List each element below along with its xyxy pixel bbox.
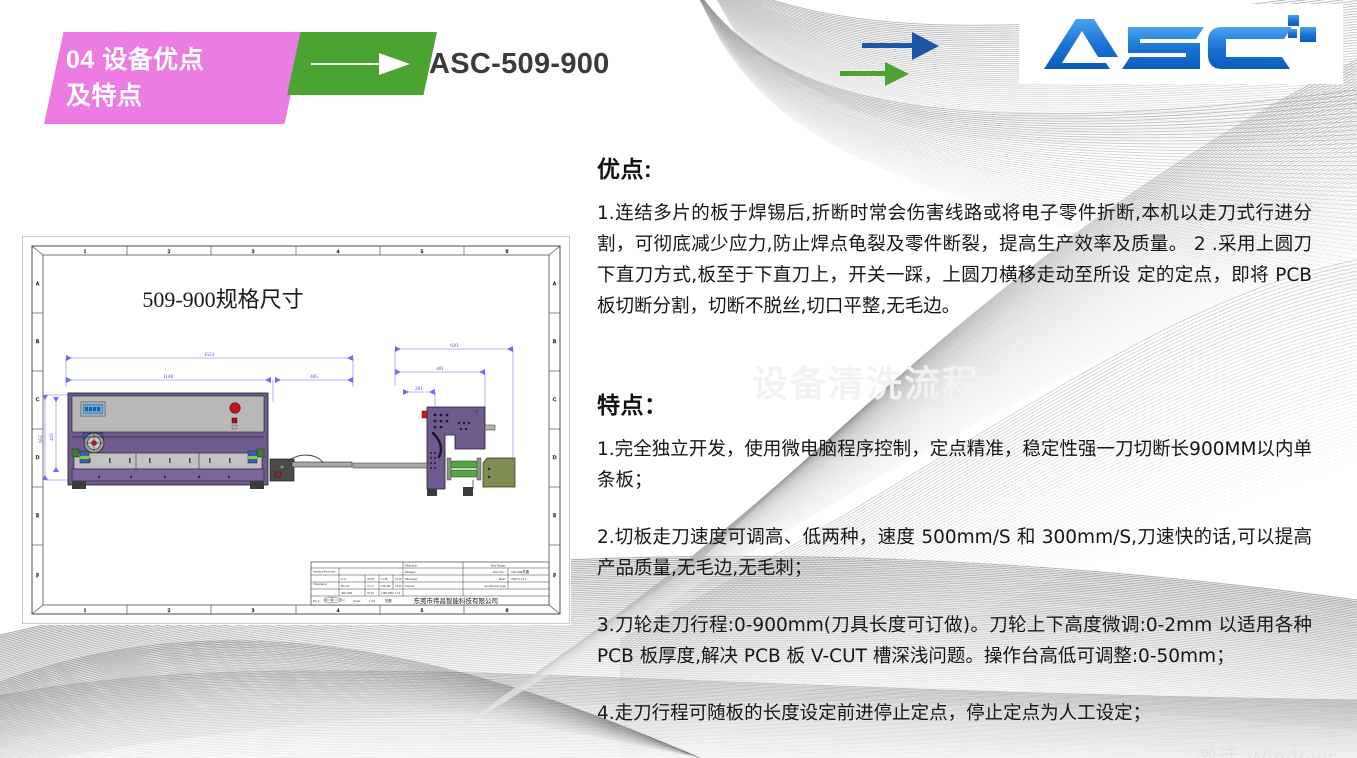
svg-text:Check:: Check: xyxy=(405,584,415,588)
asc-logo xyxy=(1019,4,1343,84)
svg-text:1:10: 1:10 xyxy=(369,599,375,603)
svg-text:80-120: 80-120 xyxy=(341,584,350,588)
windows-activation-watermark: 激活 Windows xyxy=(1196,742,1339,758)
svg-text:F: F xyxy=(553,574,556,579)
svg-text:X: X xyxy=(475,409,478,414)
svg-text:400-1200: 400-1200 xyxy=(341,591,353,595)
svg-text:E: E xyxy=(553,514,556,519)
content-column: 优点: 1.连结多片的板于焊锡后,折断时常会伤害线路或将电子零件折断,本机以走刀… xyxy=(597,150,1312,729)
dimension-front-body-height: 419 xyxy=(50,433,55,441)
section-title-line2: 及特点 xyxy=(66,82,143,110)
svg-text:±0.10: ±0.10 xyxy=(395,577,402,581)
svg-text:D: D xyxy=(553,456,557,461)
svg-text:A: A xyxy=(553,282,557,287)
dimension-side-head-width: 201 xyxy=(415,386,423,392)
dimension-side-total-width: 620 xyxy=(450,343,458,349)
svg-text:0-11: 0-11 xyxy=(341,577,347,581)
svg-text:F: F xyxy=(36,574,39,579)
svg-text:Part No. :: Part No. : xyxy=(493,570,506,574)
svg-text:2025/11/13: 2025/11/13 xyxy=(511,577,527,581)
svg-text:E: E xyxy=(36,514,39,519)
feature-item: 4.走刀行程可随板的长度设定前进停止定点，停止定点为人工设定； xyxy=(597,698,1312,729)
technical-drawing: 1 2 3 4 5 6 1 2 3 4 5 6 A B C D E F xyxy=(23,237,569,623)
model-name: ASC-509-900 xyxy=(429,48,610,81)
decorative-arrow-green-icon xyxy=(840,60,910,88)
svg-text:±1.0: ±1.0 xyxy=(395,591,401,595)
drawing-title-block: Surface Process: Tolerance: Material: De… xyxy=(311,562,549,605)
svg-text:±0.08: ±0.08 xyxy=(367,577,374,581)
feature-item: 1.完全独立开发，使用微电脑程序控制，定点精准，稳定性强一刀切断长900MM以内… xyxy=(597,434,1312,496)
feature-item: 2.切板走刀速度可调高、低两种，速度 500mm/S 和 300mm/S,刀速快… xyxy=(597,522,1312,584)
svg-text:Part Name:: Part Name: xyxy=(491,564,506,568)
advantages-title: 优点: xyxy=(597,150,1312,184)
svg-text:±0.15: ±0.15 xyxy=(367,584,374,588)
svg-text:production type: production type xyxy=(485,584,507,588)
dimension-side-frame-width: 481 xyxy=(436,366,444,372)
svg-text:A: A xyxy=(36,282,40,287)
svg-text:Drawing:: Drawing: xyxy=(405,577,418,581)
technical-drawing-card: 1 2 3 4 5 6 1 2 3 4 5 6 A B C D E F xyxy=(22,236,570,624)
svg-text:D: D xyxy=(36,456,40,461)
section-banner: 04 设备优点及特点 ASC-509-900 xyxy=(44,32,589,124)
svg-text:509-900总图: 509-900总图 xyxy=(511,569,530,574)
features-title: 特点： xyxy=(597,386,1312,420)
arrow-right-icon xyxy=(311,50,411,78)
asc-logo-mark xyxy=(1036,11,1326,77)
svg-text:120-400: 120-400 xyxy=(381,584,391,588)
svg-text:Proj:: Proj: xyxy=(313,599,320,603)
dimension-front-total-height: 652 xyxy=(39,435,44,443)
section-title: 04 设备优点及特点 xyxy=(66,42,286,114)
advantages-body: 1.连结多片的板于焊锡后,折断时常会伤害线路或将电子零件折断,本机以走刀式行进分… xyxy=(597,198,1312,322)
dimension-front-body-width: 1148 xyxy=(163,374,174,380)
svg-text:的数: 的数 xyxy=(385,598,392,603)
section-title-line1: 04 设备优点 xyxy=(66,46,204,74)
dimension-front-total-width: 1553 xyxy=(204,352,215,358)
svg-text:±0.20: ±0.20 xyxy=(395,584,402,588)
svg-text:1200-3000: 1200-3000 xyxy=(381,591,394,595)
svg-text:Date:: Date: xyxy=(499,577,506,581)
svg-text:东莞市伟昌智能科技有限公司: 东莞市伟昌智能科技有限公司 xyxy=(414,596,499,605)
dimension-front-tail-width: 405 xyxy=(310,374,318,380)
svg-text:15-80: 15-80 xyxy=(381,577,388,581)
slide-root: 04 设备优点及特点 ASC-509-900 xyxy=(0,0,1357,758)
svg-text:Surface Process:: Surface Process: xyxy=(313,570,336,574)
svg-text:Design:: Design: xyxy=(405,570,416,574)
svg-text:Tolerance:: Tolerance: xyxy=(313,582,327,586)
arrow-band xyxy=(287,32,437,95)
feature-item: 3.刀轮走刀行程:0-900mm(刀具长度可订做)。刀轮上下高度微调:0-2mm… xyxy=(597,610,1312,672)
drawing-title: 509-900规格尺寸 xyxy=(142,287,303,312)
svg-text:±0.50: ±0.50 xyxy=(367,591,374,595)
decorative-arrow-blue-icon xyxy=(862,30,940,62)
svg-text:Material:: Material: xyxy=(405,564,417,568)
svg-text:Scale: Scale xyxy=(353,599,361,603)
